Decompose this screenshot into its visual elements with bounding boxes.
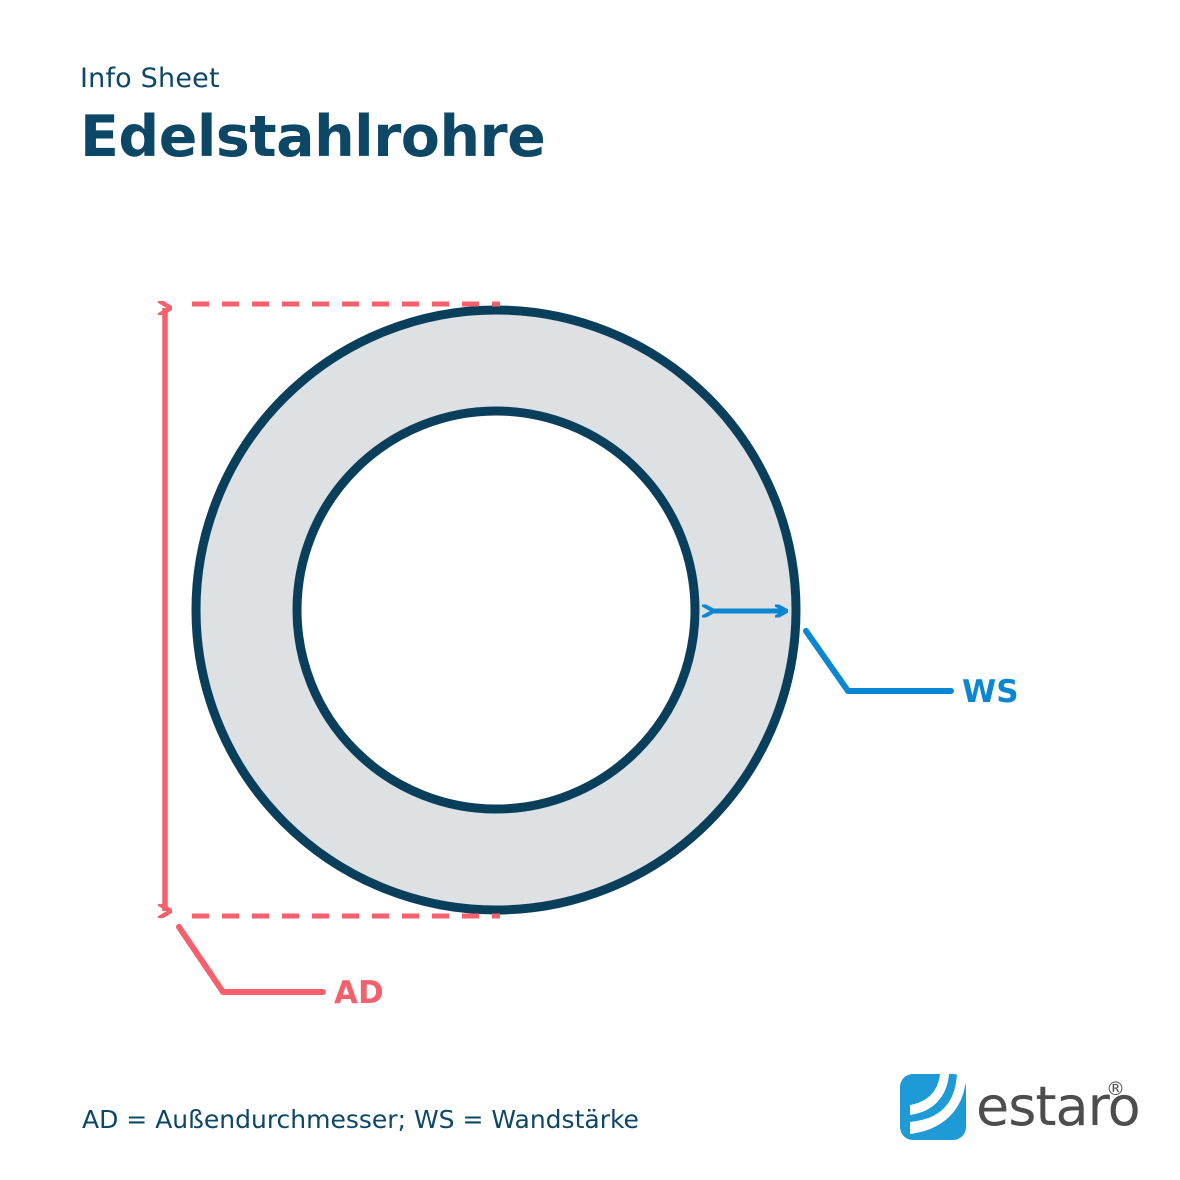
ad-leader-line [179, 927, 323, 992]
pipe-cross-section-diagram: AD WS [0, 0, 1180, 1180]
logo-swoosh-icon [900, 1074, 966, 1140]
registered-trademark-symbol: ® [1106, 1080, 1125, 1099]
ws-leader-line [806, 631, 951, 691]
estaro-logo: estaro ® [900, 1072, 1130, 1150]
pipe-body [196, 310, 796, 910]
ws-dimension-label: WS [962, 674, 1019, 710]
ad-dimension-label: AD [334, 975, 384, 1011]
pipe-inner-bore-circle [297, 411, 695, 809]
abbreviation-legend: AD = Außendurchmesser; WS = Wandstärke [82, 1105, 639, 1134]
estaro-logo-mark [900, 1074, 966, 1140]
diagram-canvas: AD WS [0, 0, 1180, 1180]
info-sheet-page: Info Sheet Edelstahlrohre [0, 0, 1180, 1180]
